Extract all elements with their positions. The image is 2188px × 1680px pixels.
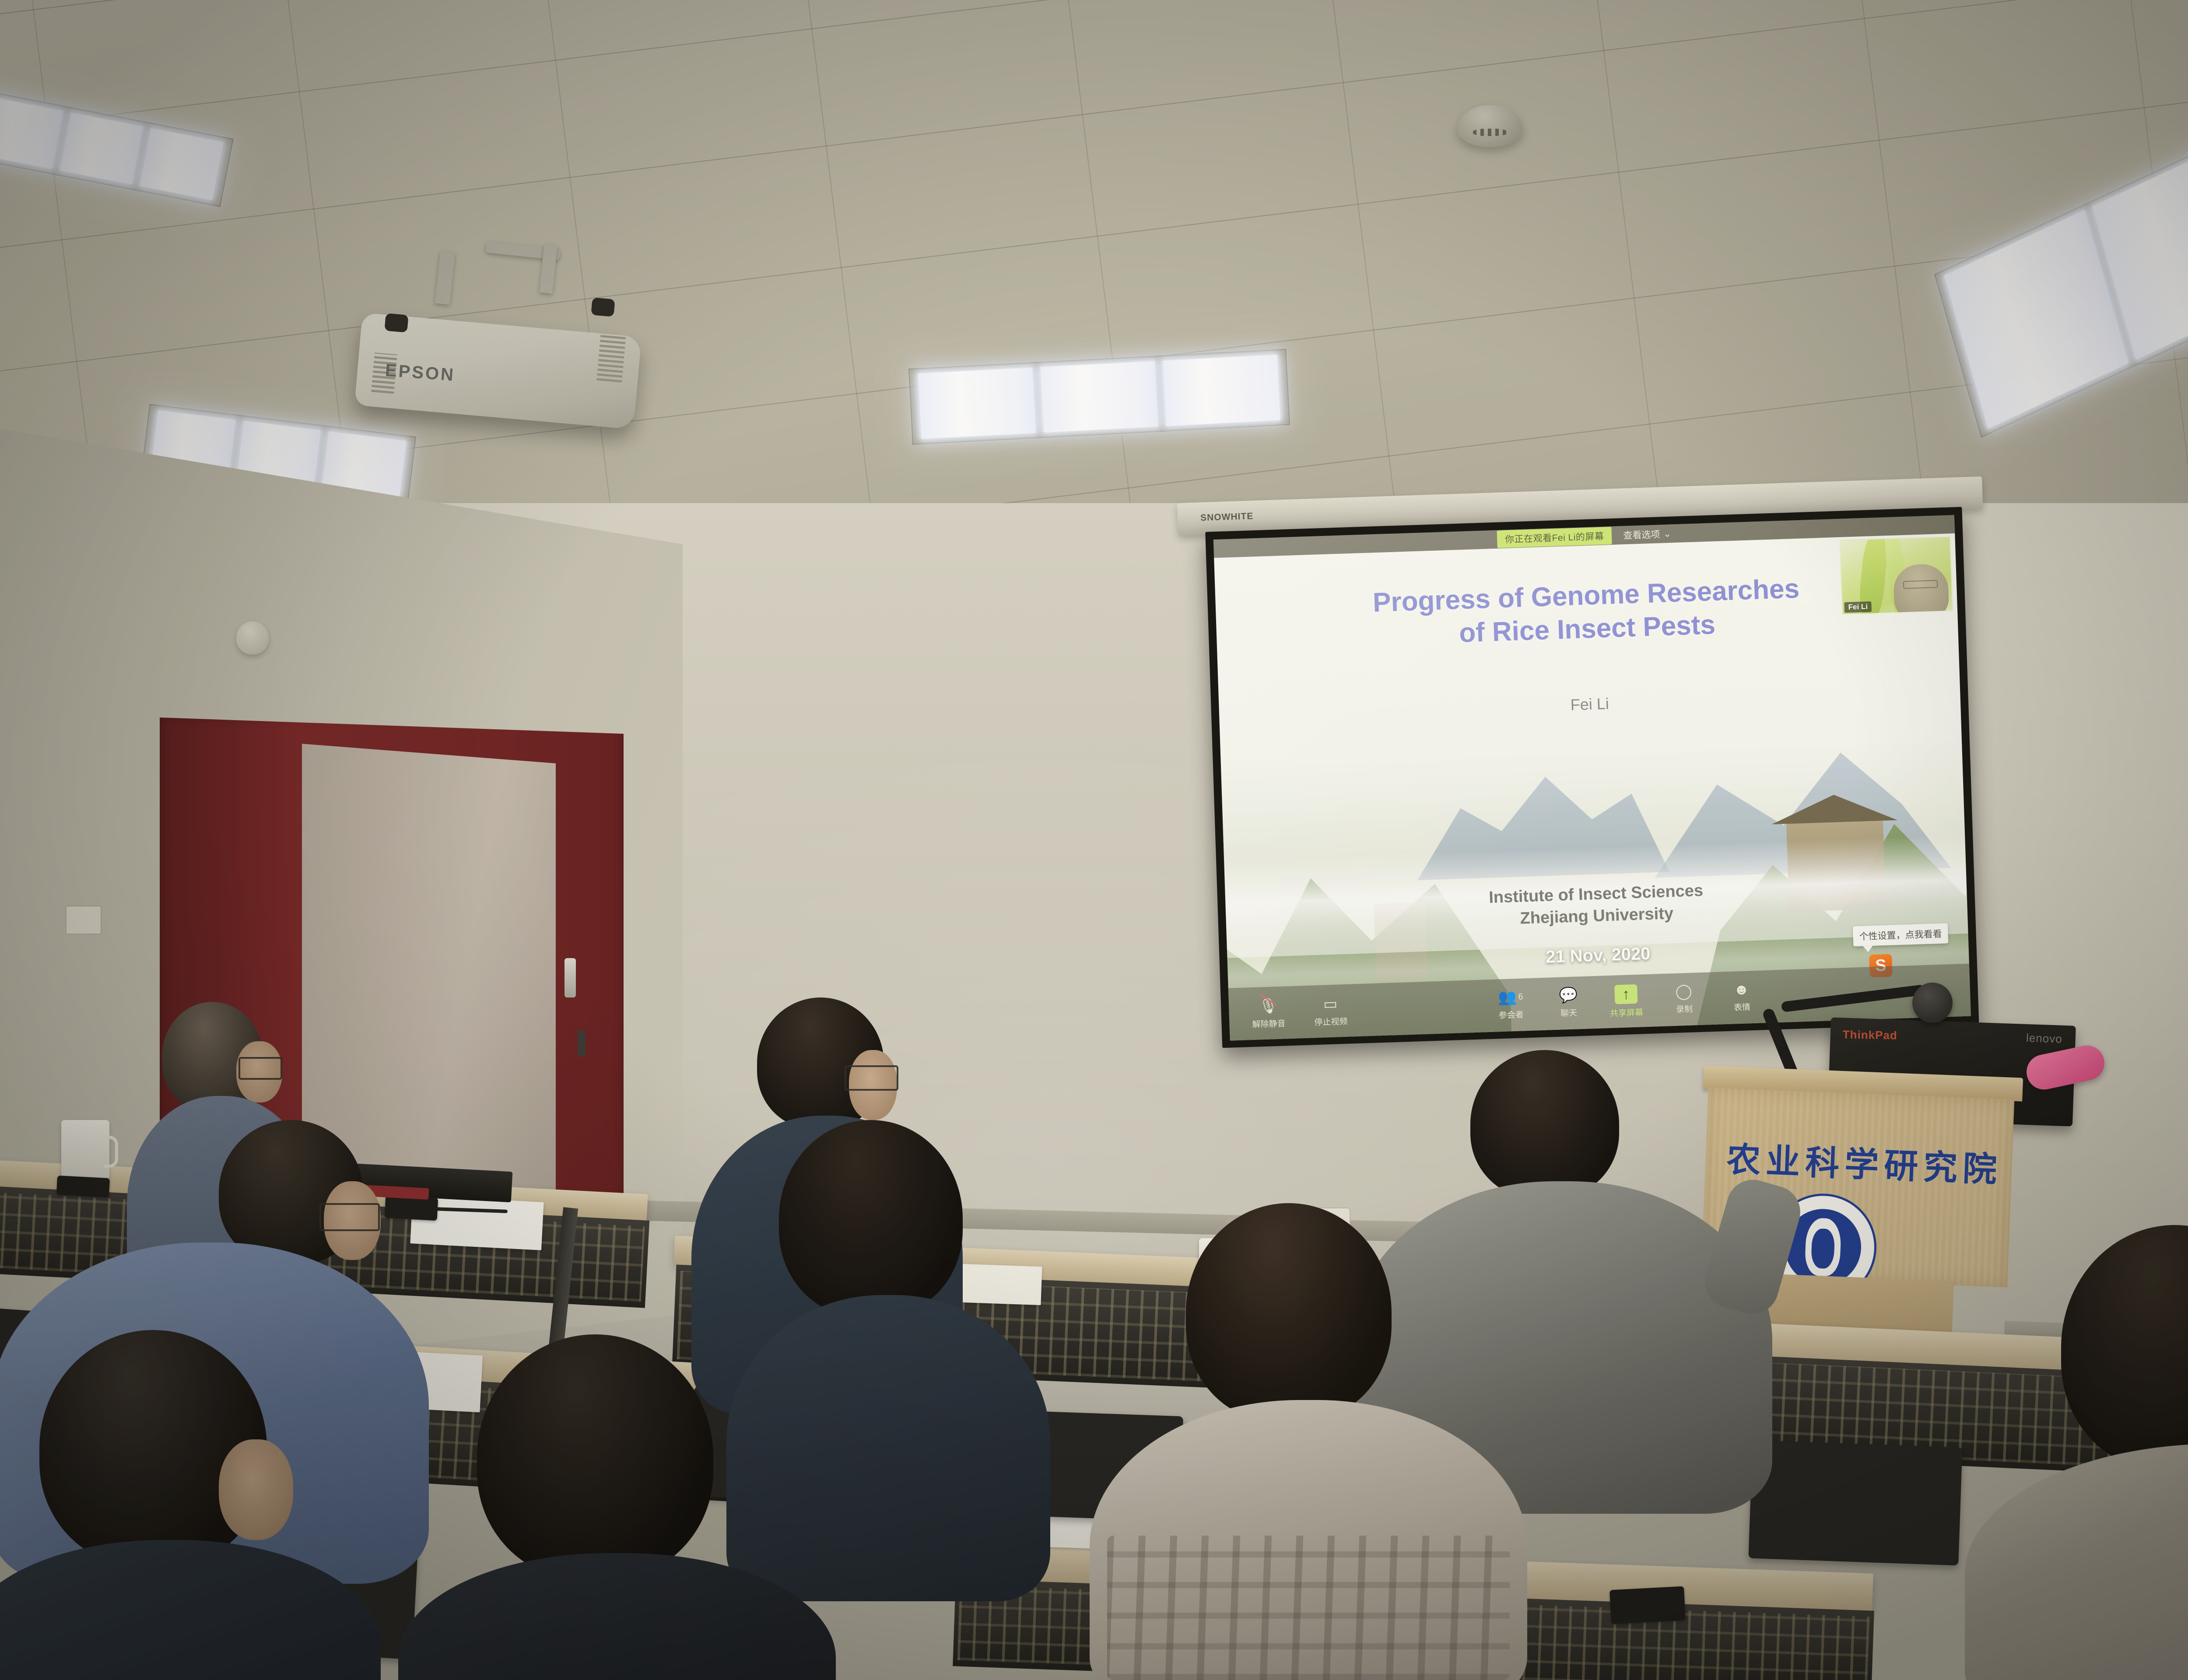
lenovo-badge: lenovo [2026,1031,2063,1046]
zoom-reactions-button[interactable]: ☻ 表情 [1717,980,1767,1015]
smartphone[interactable] [385,1195,438,1221]
chevron-down-icon: ⌄ [1663,528,1671,539]
door-handle[interactable] [565,958,576,997]
zoom-participants-label: 参会者 [1498,1008,1524,1021]
chat-bubble-icon: 💬 [1557,986,1579,1004]
zoom-share-screen-button[interactable]: ↑ 共享屏幕 [1601,983,1651,1019]
wall-speaker [236,621,269,654]
wall-switch-plate [66,906,102,934]
zoom-share-screen-label: 共享屏幕 [1610,1006,1644,1019]
microphone-head-icon [1912,983,1953,1023]
share-screen-icon: ↑ [1614,984,1637,1004]
participants-icon: 👥6 [1500,988,1521,1006]
smartphone[interactable] [1609,1586,1686,1624]
ime-tooltip[interactable]: 个性设置，点我看看 [1853,923,1948,946]
zoom-chat-label: 聊天 [1560,1006,1578,1018]
chair [1748,1440,1962,1566]
zoom-view-options-label: 查看选项 [1623,527,1660,542]
zoom-participant-name: Fei Li [1844,602,1872,613]
screen-brand-label: SNOWHITE [1200,511,1254,523]
screen-bezel: 你正在观看Fei Li的屏幕 查看选项 ⌄ [1205,507,1979,1048]
slide-author: Fei Li [1219,683,1960,726]
zoom-participants-button[interactable]: 👥6 参会者 [1486,987,1536,1023]
tea-cup [61,1120,109,1181]
door-lock[interactable] [578,1030,586,1057]
video-camera-icon: ▭ [1319,995,1341,1013]
zoom-record-label: 录制 [1676,1002,1693,1015]
lecture-room-photo: EPSON SNOWHITE V 你正在观看Fei Li的屏幕 [0,0,2188,1680]
thinkpad-badge: ThinkPad [1843,1028,1898,1042]
zoom-stop-video-label: 停止视频 [1314,1015,1348,1028]
zoom-reactions-label: 表情 [1733,1001,1750,1013]
zoom-participants-count: 6 [1518,992,1523,1001]
reactions-smiley-icon: ☻ [1731,980,1752,999]
zoom-stop-video-button[interactable]: ▭ 停止视频 [1306,994,1356,1028]
zoom-record-button[interactable]: ◯ 录制 [1659,982,1709,1017]
screen-surface: 你正在观看Fei Li的屏幕 查看选项 ⌄ [1213,515,1971,1041]
ceiling: EPSON [0,0,2188,547]
zoom-view-options-button[interactable]: 查看选项 ⌄ [1623,527,1672,542]
zoom-unmute-button[interactable]: 🎙 解除静音 [1244,996,1294,1030]
zoom-chat-button[interactable]: 💬 聊天 [1543,986,1593,1021]
sweater-pattern [1107,1536,1510,1680]
zoom-participant-thumbnail[interactable]: Fei Li [1840,536,1953,615]
zoom-unmute-label: 解除静音 [1252,1017,1286,1030]
microphone-muted-icon: 🎙 [1258,997,1279,1015]
record-circle-icon: ◯ [1673,982,1694,1001]
smartphone[interactable] [56,1176,110,1197]
